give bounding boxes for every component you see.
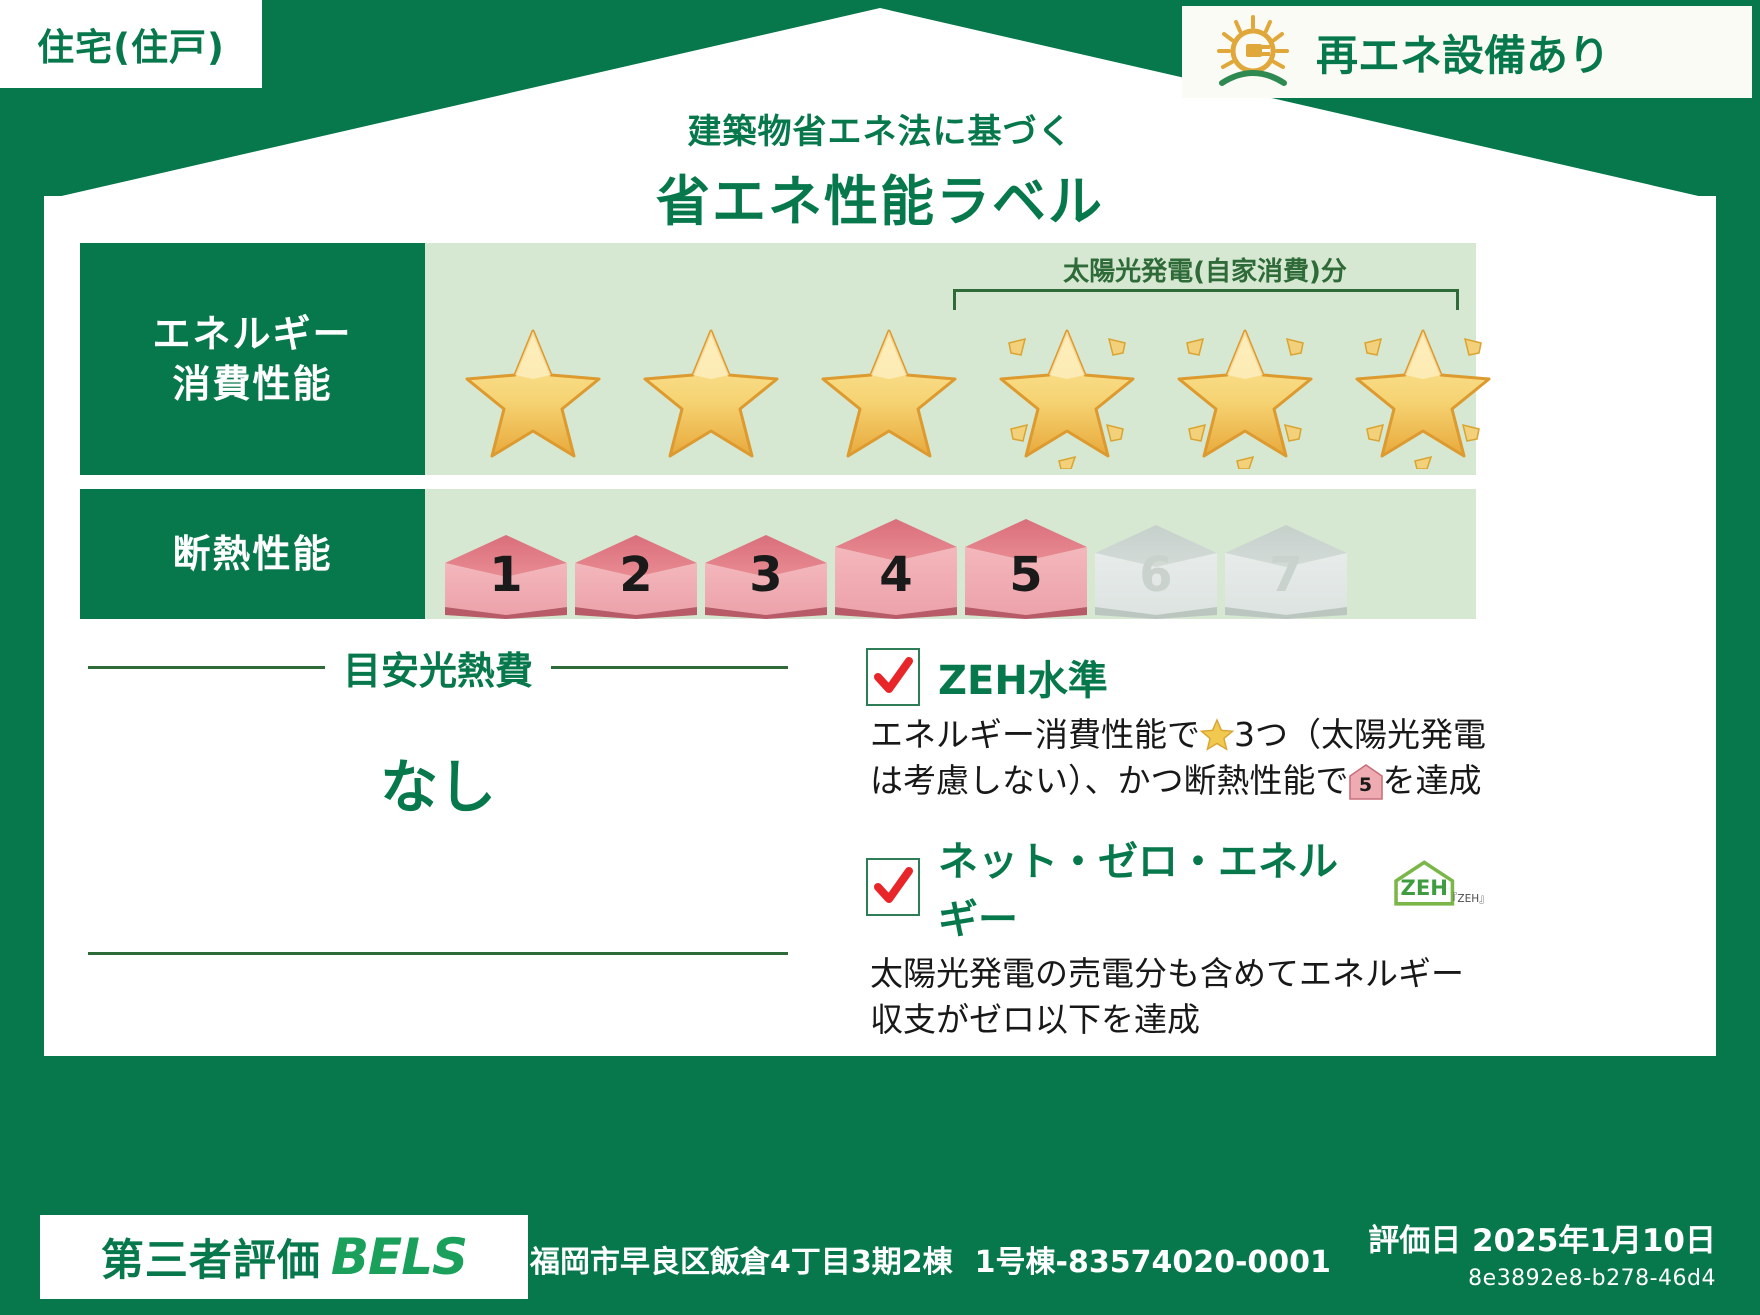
zeh-standard-checkbox[interactable] [866, 648, 920, 706]
insulation-performance-row: 断熱性能 1 [80, 489, 1476, 619]
footer: 第三者評価 BELS 福岡市早良区飯倉4丁目3期2棟1号棟-83574020-0… [0, 1199, 1760, 1315]
third-party-label: 第三者評価 [101, 1226, 321, 1288]
zeh-standard-description: エネルギー消費性能で3つ（太陽光発電は考慮しない）、かつ断熱性能で5を達成 [870, 712, 1486, 803]
zeh-desc-part3: を達成 [1383, 761, 1482, 800]
star-base [803, 309, 975, 469]
insulation-level-4: 4 [833, 517, 959, 619]
insulation-level-3: 3 [703, 533, 829, 619]
inline-star-icon [1200, 718, 1234, 752]
insulation-level-number: 6 [1093, 547, 1219, 603]
title-block: 建築物省エネ法に基づく 省エネ性能ラベル [0, 104, 1760, 236]
energy-performance-body: 太陽光発電(自家消費)分 [425, 243, 1476, 475]
building-number: 1号棟-83574020-0001 [975, 1245, 1331, 1280]
bels-label: BELS [331, 1228, 467, 1286]
evaluation-date: 評価日 2025年1月10日 [1368, 1215, 1716, 1260]
energy-performance-row: エネルギー 消費性能 太陽光発電(自家消費)分 [80, 243, 1476, 475]
insulation-performance-body: 1 2 [425, 489, 1476, 619]
insulation-level-6: 6 [1093, 523, 1219, 619]
zeh-desc-star-text: 3つ（太陽光発電 [1234, 715, 1486, 754]
energy-performance-label: エネルギー 消費性能 [80, 243, 425, 475]
zeh-area: ZEH水準 エネルギー消費性能で3つ（太陽光発電は考慮しない）、かつ断熱性能で5… [866, 648, 1486, 1068]
star-base [447, 309, 619, 469]
insulation-level-number: 2 [573, 547, 699, 603]
subtitle: 建築物省エネ法に基づく [0, 104, 1760, 153]
zeh-standard-title: ZEH水準 [938, 648, 1108, 706]
inline-house-number: 5 [1349, 772, 1383, 798]
svg-text:『ZEH』: 『ZEH』 [1447, 893, 1486, 905]
bels-logo-box: 第三者評価 BELS [40, 1215, 528, 1299]
utility-cost-bottom-rule [88, 952, 788, 955]
star-solar [1159, 309, 1331, 469]
star-base [625, 309, 797, 469]
zeh-desc-part2: は考慮しない）、かつ断熱性能で [870, 761, 1349, 800]
insulation-level-number: 3 [703, 547, 829, 603]
insulation-level-5: 5 [963, 517, 1089, 619]
insulation-level-number: 5 [963, 547, 1089, 603]
insulation-level-number: 1 [443, 547, 569, 603]
type-badge-label: 住宅(住戸) [37, 17, 225, 71]
zeh-desc-part1: エネルギー消費性能で [870, 715, 1200, 754]
svg-text:ZEH: ZEH [1401, 875, 1448, 900]
net-zero-energy-title: ネット・ゼロ・エネルギー [938, 829, 1361, 945]
insulation-level-number: 4 [833, 547, 959, 603]
insulation-level-scale: 1 2 [443, 517, 1349, 619]
zeh-logo-icon: ZEH 『ZEH』 [1389, 858, 1486, 916]
address-text: 福岡市早良区飯倉4丁目3期2棟 [530, 1245, 953, 1280]
evaluation-info: 評価日 2025年1月10日 8e3892e8-b278-46d4 [1368, 1215, 1716, 1291]
solar-caption: 太陽光発電(自家消費)分 [925, 251, 1485, 288]
solar-bracket [953, 289, 1459, 310]
nze-desc-line2: 収支がゼロ以下を達成 [870, 1000, 1200, 1039]
star-solar [1337, 309, 1509, 469]
rule-left [88, 666, 325, 669]
energy-label-line2: 消費性能 [172, 359, 332, 409]
renewable-badge-label: 再エネ設備あり [1316, 22, 1610, 83]
insulation-level-number: 7 [1223, 547, 1349, 603]
utility-cost-label: 目安光熱費 [325, 640, 551, 695]
utility-cost-heading: 目安光熱費 [88, 640, 788, 695]
net-zero-energy-description: 太陽光発電の売電分も含めてエネルギー収支がゼロ以下を達成 [870, 951, 1486, 1042]
insulation-label-text: 断熱性能 [172, 529, 332, 579]
property-address: 福岡市早良区飯倉4丁目3期2棟1号棟-83574020-0001 [530, 1237, 1331, 1281]
bels-label-root: 住宅(住戸) [0, 0, 1760, 1315]
rule-right [551, 666, 788, 669]
energy-label-line1: エネルギー [152, 309, 352, 359]
insulation-level-1: 1 [443, 533, 569, 619]
star-rating [447, 309, 1509, 469]
label-uuid: 8e3892e8-b278-46d4 [1368, 1266, 1716, 1291]
net-zero-energy-header: ネット・ゼロ・エネルギー ZEH 『ZEH』 [866, 829, 1486, 945]
utility-cost-value: なし [88, 740, 788, 824]
net-zero-energy-checkbox[interactable] [866, 858, 920, 916]
insulation-performance-label: 断熱性能 [80, 489, 425, 619]
page-title: 省エネ性能ラベル [0, 157, 1760, 236]
insulation-level-7: 7 [1223, 523, 1349, 619]
type-badge: 住宅(住戸) [0, 0, 262, 88]
zeh-standard-header: ZEH水準 [866, 648, 1486, 706]
nze-desc-line1: 太陽光発電の売電分も含めてエネルギー [870, 954, 1464, 993]
insulation-level-2: 2 [573, 533, 699, 619]
inline-house-icon: 5 [1349, 764, 1383, 800]
star-solar [981, 309, 1153, 469]
renewable-energy-badge: 再エネ設備あり [1182, 6, 1752, 98]
solar-sun-icon [1210, 13, 1296, 91]
